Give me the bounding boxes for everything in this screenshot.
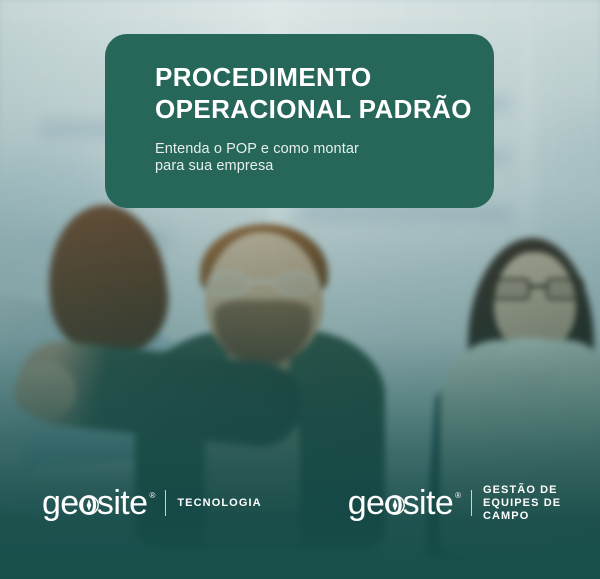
logo-tagline-line-1: GESTÃO DE [483, 484, 600, 497]
compass-icon [384, 494, 406, 516]
title-card: PROCEDIMENTO OPERACIONAL PADRÃO Entenda … [105, 34, 494, 208]
page-subtitle-line-1: Entenda o POP e como montar [155, 141, 464, 158]
logo-tagline-line-2: EQUIPES DE CAMPO [483, 497, 600, 523]
page-subtitle-line-2: para sua empresa [155, 158, 464, 175]
geosite-wordmark: geosite ® [42, 486, 155, 520]
compass-icon [78, 494, 100, 516]
page-subtitle: Entenda o POP e como montar para sua emp… [155, 141, 464, 175]
geosite-wordmark: geosite ® [348, 486, 461, 520]
logo-row: geosite ® TECNOLOGIA geosite ® [0, 477, 600, 529]
logo-geosite-gestao-equipes-de-campo[interactable]: geosite ® GESTÃO DE EQUIPES DE CAMPO [348, 484, 600, 523]
logo-tagline: GESTÃO DE EQUIPES DE CAMPO [483, 484, 600, 523]
page-title-line-1: PROCEDIMENTO [155, 62, 464, 92]
logo-tagline-line-1: TECNOLOGIA [177, 497, 261, 510]
logo-divider [471, 490, 472, 516]
registered-trademark-icon: ® [149, 492, 155, 500]
logo-tagline: TECNOLOGIA [177, 497, 261, 510]
registered-trademark-icon: ® [455, 492, 461, 500]
page-title-line-2: OPERACIONAL PADRÃO [155, 94, 464, 124]
logo-geosite-tecnologia[interactable]: geosite ® TECNOLOGIA [42, 486, 262, 520]
social-post-poster: PROCEDIMENTO OPERACIONAL PADRÃO Entenda … [0, 0, 600, 579]
logo-divider [165, 490, 166, 516]
